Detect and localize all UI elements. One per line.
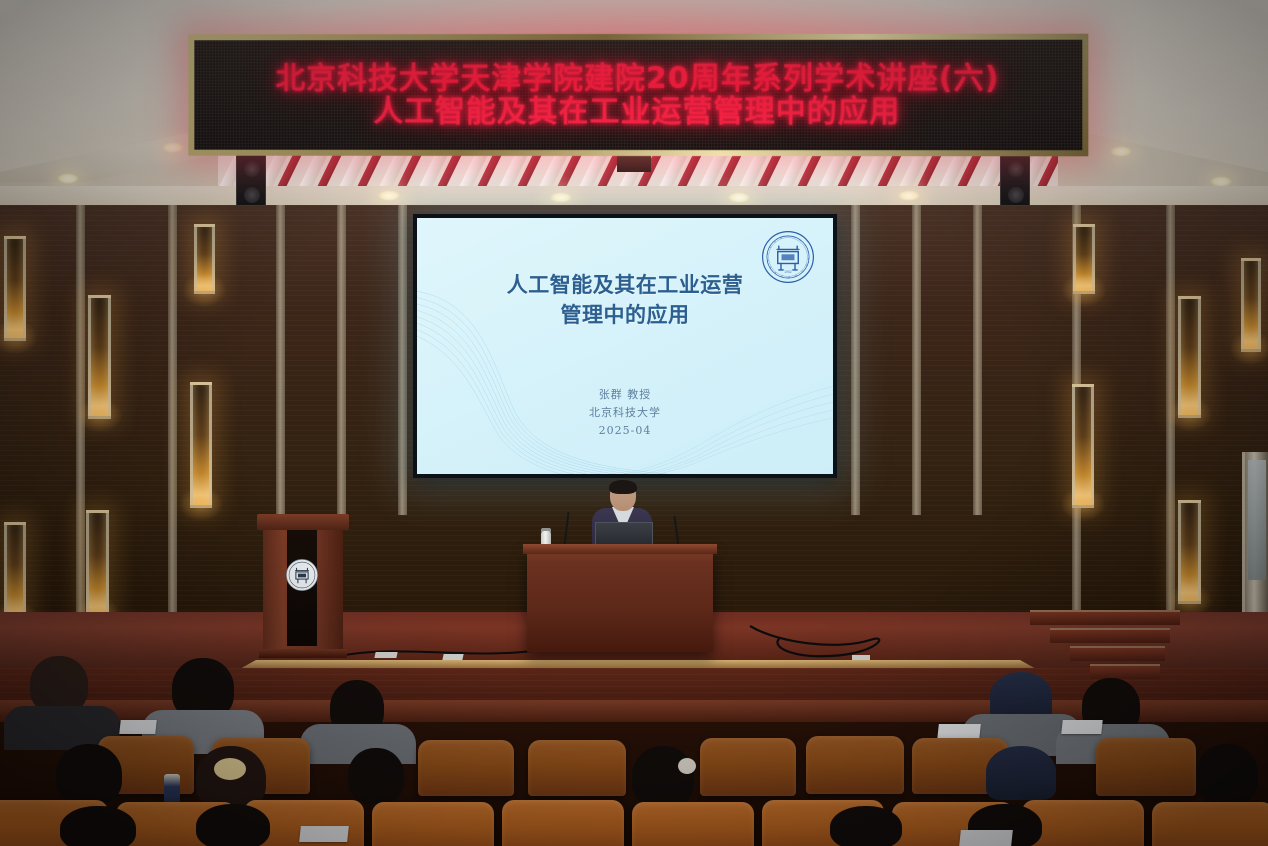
- wall-panel-strip: [276, 205, 285, 515]
- handout-paper: [119, 720, 156, 734]
- wall-panel-strip: [973, 205, 982, 515]
- water-bottle: [164, 774, 180, 804]
- wall-niche-light: [1073, 224, 1095, 294]
- lectern-top: [257, 514, 349, 530]
- led-banner-line-2: 人工智能及其在工业运营管理中的应用: [373, 96, 900, 128]
- wall-niche-light: [4, 236, 26, 341]
- wall-niche-light: [4, 522, 26, 622]
- wall-panel-strip: [398, 205, 407, 515]
- slide-date: 2025-04: [417, 422, 833, 440]
- presenter-desk-top: [523, 544, 717, 554]
- slide-presenter: 张群 教授: [417, 386, 833, 404]
- audience-area: [0, 700, 1268, 846]
- auditorium-seat[interactable]: [418, 740, 514, 796]
- ceiling-downlight: [1110, 146, 1132, 157]
- auditorium-seat[interactable]: [528, 740, 626, 796]
- led-banner-line-1: 北京科技大学天津学院建院20周年系列学术讲座(六): [275, 62, 999, 94]
- audience-head: [632, 746, 694, 808]
- wall-panel-strip: [851, 205, 860, 515]
- audience-head: [1196, 744, 1258, 806]
- wall-niche-light: [1241, 258, 1261, 352]
- slide-title-line-1: 人工智能及其在工业运营: [417, 270, 833, 300]
- projection-screen: 1952 人工智能及其在工业运营 管理中的应用 张群 教授 北京科技大学 202…: [413, 214, 837, 478]
- floor-item: [442, 654, 463, 660]
- presenter-desk: [527, 550, 713, 652]
- ceiling-downlight: [162, 142, 184, 153]
- audience-head: [830, 806, 902, 846]
- presentation-slide: 1952 人工智能及其在工业运营 管理中的应用 张群 教授 北京科技大学 202…: [417, 218, 833, 474]
- auditorium-seat[interactable]: [372, 802, 494, 846]
- audience-head: [196, 804, 270, 846]
- led-scrolling-banner: 北京科技大学天津学院建院20周年系列学术讲座(六) 人工智能及其在工业运营管理中…: [188, 34, 1088, 157]
- floor-item: [374, 652, 397, 658]
- handout-paper: [299, 826, 349, 842]
- speaker-cone-icon: [244, 161, 260, 177]
- auditorium-seat[interactable]: [502, 800, 624, 846]
- lectern: [261, 514, 345, 656]
- hair-tie-accessory: [214, 758, 246, 780]
- speaker-cone-icon: [244, 187, 260, 203]
- ustb-university-seal-logo: [285, 558, 319, 592]
- wall-niche-light: [1178, 296, 1201, 418]
- lectern-base: [259, 649, 347, 658]
- audience-head: [348, 748, 404, 804]
- auditorium-seat[interactable]: [700, 738, 796, 796]
- handout-paper: [959, 830, 1013, 846]
- door-glass-panel: [1248, 460, 1266, 580]
- ceiling-downlight: [898, 190, 920, 201]
- floor-item: [852, 655, 870, 660]
- slide-title-line-2: 管理中的应用: [417, 300, 833, 330]
- wall-niche-light: [190, 382, 212, 508]
- auditorium-seat[interactable]: [1152, 802, 1268, 846]
- wall-niche-light: [1178, 500, 1201, 604]
- presenter-glasses: [612, 492, 634, 497]
- ceiling-downlight: [728, 192, 750, 203]
- slide-title: 人工智能及其在工业运营 管理中的应用: [417, 270, 833, 331]
- wall-panel-strip: [912, 205, 921, 515]
- audience-head-with-cap: [986, 746, 1056, 800]
- slide-affiliation: 北京科技大学: [417, 404, 833, 422]
- auditorium-seat[interactable]: [632, 802, 754, 846]
- speaker-cone-icon: [1008, 161, 1024, 177]
- audience-head: [56, 744, 122, 806]
- audience-head: [60, 806, 136, 846]
- auditorium-seat[interactable]: [806, 736, 904, 794]
- wall-niche-light: [86, 510, 109, 618]
- hair-tie-accessory: [678, 758, 696, 774]
- stage-steps: [1030, 600, 1230, 690]
- wall-niche-light: [1072, 384, 1094, 508]
- auditorium-seat[interactable]: [1096, 738, 1196, 796]
- lecture-hall-photo: 北京科技大学天津学院建院20周年系列学术讲座(六) 人工智能及其在工业运营管理中…: [0, 0, 1268, 846]
- wall-niche-light: [88, 295, 111, 419]
- wall-panel-strip: [337, 205, 346, 515]
- wall-niche-light: [194, 224, 215, 294]
- handout-paper: [1061, 720, 1102, 734]
- ceiling-downlight: [57, 173, 79, 184]
- wall-panel-strip: [168, 205, 177, 675]
- slide-metadata: 张群 教授 北京科技大学 2025-04: [417, 386, 833, 440]
- speaker-cone-icon: [1008, 187, 1024, 203]
- ceiling-downlight: [550, 192, 572, 203]
- ceiling-downlight: [378, 190, 400, 201]
